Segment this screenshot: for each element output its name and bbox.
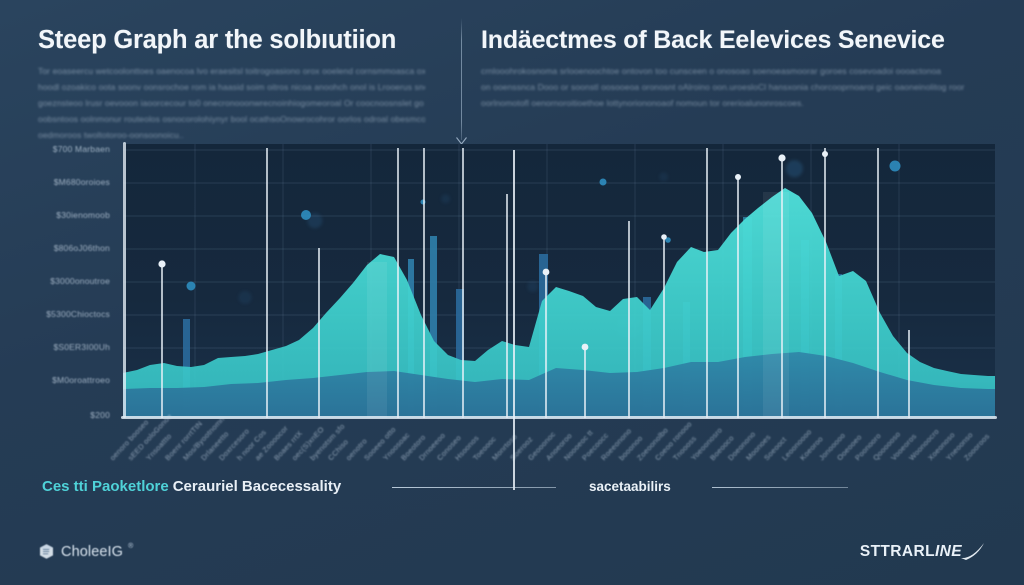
chart-panel: $700 Marbaen $M680oroioes $30ienomoob $8… — [18, 142, 1006, 422]
caption-rule-right — [712, 487, 848, 488]
body-line: oedmoroos twoltotoroo-oonsoonoicu.. — [38, 130, 425, 140]
y-tick-label: $700 Marbaen — [53, 144, 110, 154]
header: Steep Graph ar the solbıutiion Tor eoase… — [0, 0, 1024, 140]
header-left-body: Tor eoaseercu wetcoolonttoes oaenocoa lv… — [38, 66, 425, 140]
y-tick-label: $30ienomoob — [56, 210, 110, 220]
page-title-left: Steep Graph ar the solbıutiion — [38, 26, 425, 55]
y-axis-line — [123, 142, 126, 418]
page-title-right: Indäectmes of Back Eelevices Senevice — [481, 26, 984, 55]
caption-plain-text: Cerauriel Bacecessality — [173, 478, 341, 495]
brand-left-superscript: ® — [128, 543, 133, 550]
brand-left-name: CholeeIG — [61, 544, 123, 560]
brand-right-prefix: STTRARL — [860, 543, 935, 560]
caption-accent-text: Ces tti Paoketlore — [42, 478, 169, 495]
swoosh-icon — [960, 542, 986, 562]
cube-logo-icon — [38, 543, 55, 560]
body-line: Tor eoaseercu wetcoolonttoes oaenocoa lv… — [38, 66, 425, 76]
caption-rule-left — [392, 487, 556, 488]
footer: CholeeIG ® STTRARLINE — [0, 520, 1024, 585]
brand-right[interactable]: STTRARLINE — [860, 542, 986, 562]
y-tick-label: $S0ER3I00Uh — [53, 342, 110, 352]
brand-right-italic: INE — [935, 543, 962, 560]
y-axis-labels: $700 Marbaen $M680oroioes $30ienomoob $8… — [18, 142, 118, 420]
header-column-right: Indäectmes of Back Eelevices Senevice cr… — [455, 0, 1024, 140]
caption-mid-text: sacetaabilirs — [589, 479, 671, 494]
body-line: oobsntoos oolnmonur routeolos osnocorolo… — [38, 114, 425, 124]
vertical-drop-line — [513, 150, 515, 490]
header-column-left: Steep Graph ar the solbıutiion Tor eoase… — [0, 0, 455, 140]
caption-band: Ces tti PaoketloreCerauriel Bacecessalit… — [0, 470, 1024, 514]
brand-right-name: STTRARLINE — [860, 543, 962, 561]
body-line: on ooenssnca Dooo or soonstl oosooeoa or… — [481, 82, 984, 92]
y-tick-label: $806oJ06thon — [54, 243, 110, 253]
caption-left: Ces tti PaoketloreCerauriel Bacecessalit… — [42, 478, 341, 495]
infographic-root: Steep Graph ar the solbıutiion Tor eoase… — [0, 0, 1024, 585]
y-tick-label: $M680oroioes — [54, 177, 110, 187]
body-line: crnlooohrokosnoma srlooenoochtoe ontovon… — [481, 66, 984, 76]
y-tick-label: $3000onoutroe — [50, 276, 110, 286]
area-chart — [123, 144, 995, 418]
x-axis-line — [121, 416, 997, 419]
body-line: oorlnomotofl oenornoroitioethoe lottynor… — [481, 98, 984, 108]
body-line: goeznsteoo lrusr oevooon iaoorcecour to0… — [38, 98, 425, 108]
body-line: hoodl ozoakico oota soonv oonsrochoe rom… — [38, 82, 425, 92]
y-tick-label: $M0oroattroeo — [52, 375, 110, 385]
y-tick-label: $5300Chioctocs — [46, 309, 110, 319]
header-right-body: crnlooohrokosnoma srlooenoochtoe ontovon… — [481, 66, 984, 108]
brand-left[interactable]: CholeeIG ® — [38, 543, 134, 560]
header-divider — [461, 18, 462, 140]
y-tick-label: $200 — [90, 410, 110, 420]
